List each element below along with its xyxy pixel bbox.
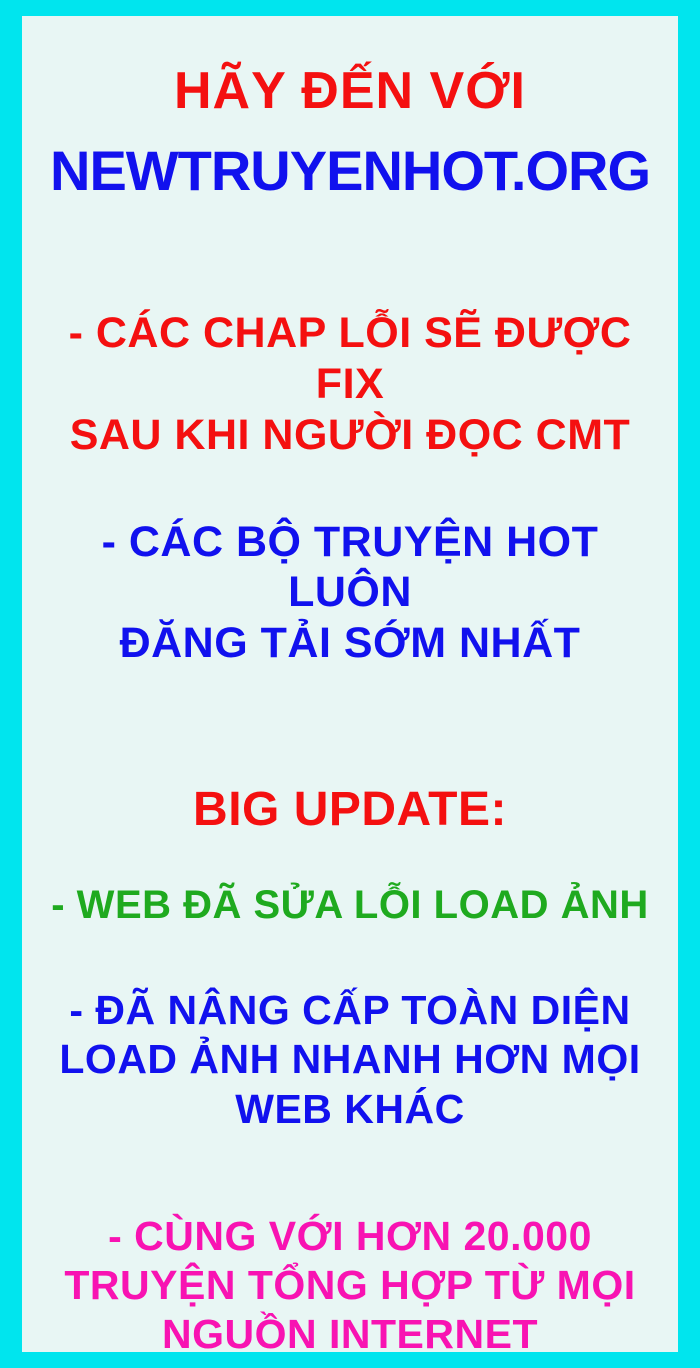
poster-content: HÃY ĐẾN VỚI NEWTRUYENHOT.ORG - CÁC CHAP … <box>22 16 678 1352</box>
note-series-count: - CÙNG VỚI HƠN 20.000 TRUYỆN TỔNG HỢP TỪ… <box>36 1212 664 1360</box>
big-update-title: BIG UPDATE: <box>36 785 664 836</box>
note-upgrade: - ĐÃ NÂNG CẤP TOÀN DIỆN LOAD ẢNH NHANH H… <box>36 986 664 1134</box>
note-fix-chapters: - CÁC CHAP LỖI SẼ ĐƯỢC FIX SAU KHI NGƯỜI… <box>36 308 664 460</box>
note-image-load-fixed: - WEB ĐÃ SỬA LỖI LOAD ẢNH <box>36 884 664 926</box>
promo-poster: HÃY ĐẾN VỚI NEWTRUYENHOT.ORG - CÁC CHAP … <box>22 16 678 1352</box>
headline-text: HÃY ĐẾN VỚI <box>36 64 664 119</box>
note-hot-series: - CÁC BỘ TRUYỆN HOT LUÔN ĐĂNG TẢI SỚM NH… <box>36 517 664 669</box>
website-name[interactable]: NEWTRUYENHOT.ORG <box>36 141 664 200</box>
